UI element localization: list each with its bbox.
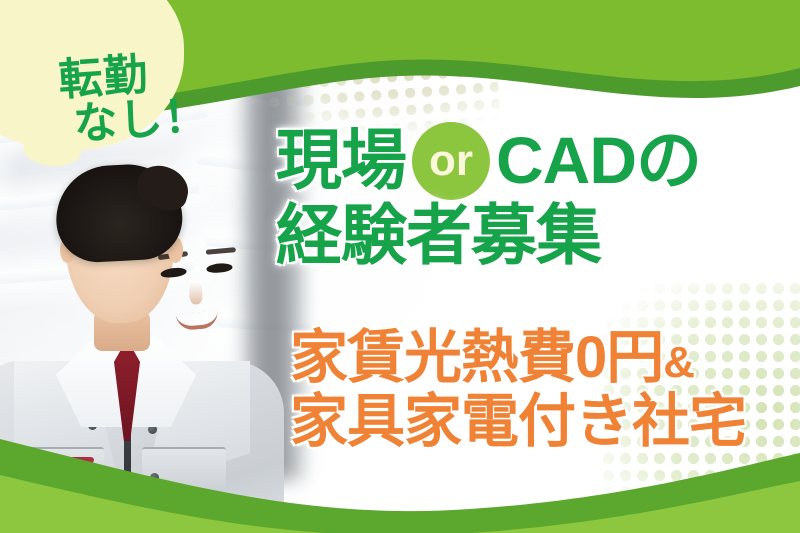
eye-right: [206, 262, 233, 273]
subcopy-rent-free: 家賃光熱費0円: [290, 325, 663, 390]
mouth-smile: [176, 311, 219, 332]
eyebrow-right: [206, 247, 236, 255]
person-photo: [0, 165, 294, 533]
subcopy: 家賃光熱費0円& 家具家電付き社宅: [290, 326, 746, 454]
subcopy-line-1: 家賃光熱費0円&: [290, 326, 746, 390]
jacket-button: [72, 471, 81, 480]
badge-text: 転勤 なし！: [57, 49, 213, 149]
pocket-zip-red: [28, 457, 94, 463]
nose: [189, 282, 203, 304]
recruitment-banner: 転勤 なし！ 現場 or CADの 経験者募集 家賃光熱費0円& 家具家電付き社…: [0, 0, 800, 533]
or-badge: or: [412, 122, 490, 200]
subcopy-ampersand: &: [663, 338, 694, 387]
eye-left: [160, 267, 187, 279]
headline-genba: 現場: [276, 125, 406, 196]
badge-line-2: なし！: [60, 94, 213, 149]
headline-line-2: 経験者募集: [276, 200, 701, 271]
subcopy-line-2: 家具家電付き社宅: [290, 390, 746, 454]
jacket-button: [150, 473, 159, 482]
jacket-pocket-left: [20, 447, 104, 489]
headline: 現場 or CADの 経験者募集: [276, 122, 701, 271]
headline-cad: CADの: [496, 125, 701, 196]
hair: [54, 162, 185, 264]
headline-line-1: 現場 or CADの: [276, 122, 701, 200]
jacket-pocket-right: [142, 447, 226, 489]
